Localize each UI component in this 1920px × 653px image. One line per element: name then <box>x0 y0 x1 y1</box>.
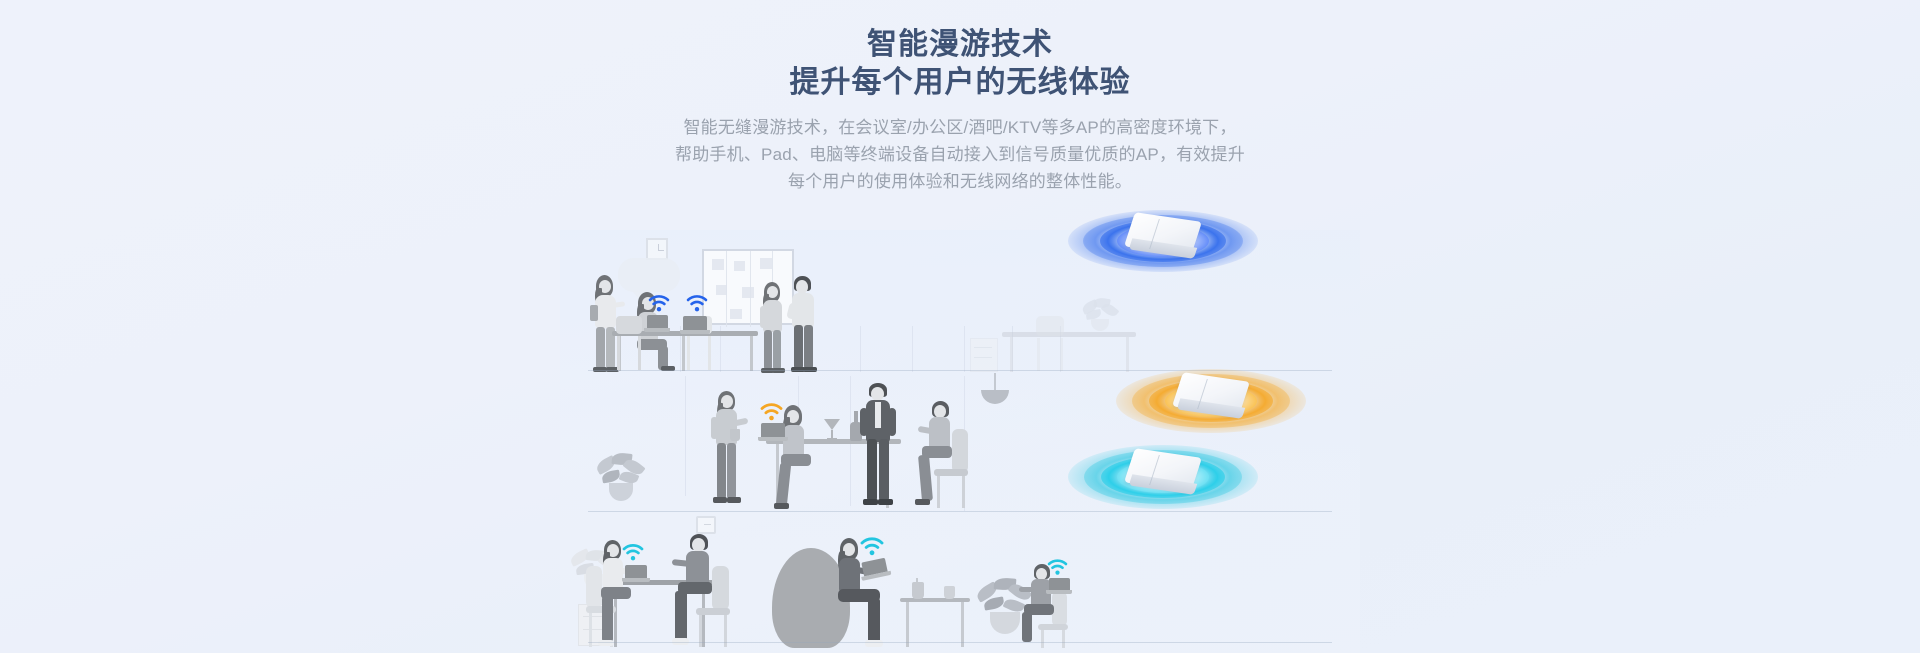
person-seated <box>672 534 720 648</box>
promo-page: 智能漫游技术 提升每个用户的无线体验 智能无缝漫游技术，在会议室/办公区/酒吧/… <box>0 0 1920 653</box>
illustration-stage <box>560 230 1360 653</box>
sticky-note <box>734 261 745 271</box>
access-point-orange <box>1116 366 1306 436</box>
ap-device-body <box>1168 377 1254 423</box>
wall-frame <box>696 516 716 534</box>
person-standing <box>858 383 900 507</box>
description-line-2: 帮助手机、Pad、电脑等终端设备自动接入到信号质量优质的AP，有效提升 <box>0 141 1920 168</box>
drink-cup <box>944 586 955 599</box>
wifi-icon <box>622 543 644 562</box>
laptop-device <box>622 565 650 583</box>
description-line-1: 智能无缝漫游技术，在会议室/办公区/酒吧/KTV等多AP的高密度环境下， <box>0 114 1920 141</box>
person-standing <box>786 276 822 371</box>
description-line-3: 每个用户的使用体验和无线网络的整体性能。 <box>0 168 1920 195</box>
wifi-icon <box>1047 558 1068 576</box>
person-standing <box>708 391 746 507</box>
access-point-blue <box>1068 206 1258 276</box>
laptop-device <box>680 316 710 335</box>
file-cabinet <box>970 338 998 372</box>
header-block: 智能漫游技术 提升每个用户的无线体验 智能无缝漫游技术，在会议室/办公区/酒吧/… <box>0 26 1920 195</box>
floor-divider <box>588 642 1332 643</box>
wifi-icon <box>860 536 884 557</box>
ap-device-body <box>1120 453 1206 499</box>
sticky-note <box>712 259 724 270</box>
laptop-device <box>758 423 788 442</box>
laptop-device <box>1046 578 1072 595</box>
potted-plant <box>596 453 646 507</box>
laptop-device <box>644 315 670 333</box>
sticky-note <box>760 258 772 269</box>
drink-cup <box>912 582 924 599</box>
person-seated <box>914 401 960 507</box>
access-point-cyan <box>1068 442 1258 512</box>
glass <box>730 429 740 441</box>
page-description: 智能无缝漫游技术，在会议室/办公区/酒吧/KTV等多AP的高密度环境下， 帮助手… <box>0 114 1920 195</box>
page-title-line-1: 智能漫游技术 <box>0 26 1920 64</box>
cocktail-glass <box>824 419 840 441</box>
wifi-icon <box>760 402 783 422</box>
coffee-table <box>900 598 970 648</box>
pendant-lamp <box>975 373 1015 407</box>
ap-device-body <box>1120 217 1206 263</box>
chair <box>1036 316 1066 372</box>
floor-meeting-room <box>560 230 1360 371</box>
potted-plant <box>1080 298 1120 334</box>
speech-bubble <box>618 258 680 292</box>
person-standing <box>756 282 790 371</box>
person-seated <box>1018 564 1062 648</box>
wifi-icon <box>648 294 670 313</box>
chair <box>616 316 644 371</box>
sticky-note <box>742 287 754 298</box>
sticky-note <box>730 309 742 319</box>
wifi-icon <box>686 294 708 313</box>
wall-clock-icon <box>646 238 668 260</box>
page-title-line-2: 提升每个用户的无线体验 <box>0 64 1920 102</box>
floor-lounge <box>560 512 1360 653</box>
